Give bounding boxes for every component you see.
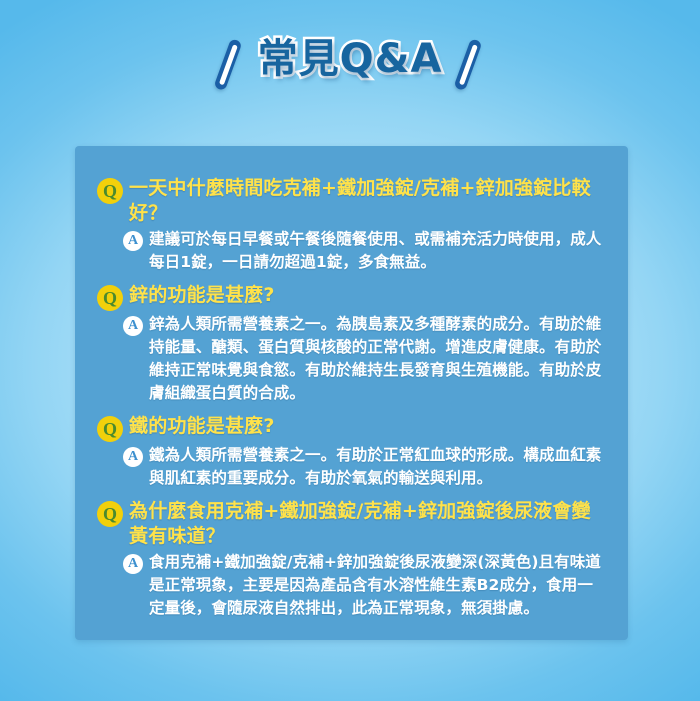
question-row: Q為什麼食用克補+鐵加強錠/克補+鋅加強錠後尿液會變黃有味道？ (97, 499, 606, 549)
question-text: 鋅的功能是甚麼? (129, 283, 275, 308)
answer-row: A鋅為人類所需營養素之一。為胰島素及多種酵素的成分。有助於維持能量、醣類、蛋白質… (97, 313, 606, 405)
question-text: 為什麼食用克補+鐵加強錠/克補+鋅加強錠後尿液會變黃有味道？ (129, 499, 606, 549)
answer-row: A食用克補+鐵加強錠/克補+鋅加強錠後尿液變深(深黃色)且有味道是正常現象，主要… (97, 551, 606, 620)
question-text: 鐵的功能是甚麼? (129, 414, 275, 439)
question-text: 一天中什麼時間吃克補+鐵加強錠/克補+鋅加強錠比較好？ (129, 176, 606, 226)
answer-text: 鋅為人類所需營養素之一。為胰島素及多種酵素的成分。有助於維持能量、醣類、蛋白質與… (149, 313, 606, 405)
faq-panel: Q一天中什麼時間吃克補+鐵加強錠/克補+鋅加強錠比較好？A建議可於每日早餐或午餐… (75, 146, 628, 640)
answer-badge-icon: A (123, 447, 143, 467)
slash-left-icon (213, 38, 242, 91)
question-row: Q鐵的功能是甚麼? (97, 414, 606, 442)
faq-list: Q一天中什麼時間吃克補+鐵加強錠/克補+鋅加強錠比較好？A建議可於每日早餐或午餐… (97, 176, 606, 620)
faq-item: Q一天中什麼時間吃克補+鐵加強錠/克補+鋅加強錠比較好？A建議可於每日早餐或午餐… (97, 176, 606, 274)
faq-item: Q鐵的功能是甚麼?A鐵為人類所需營養素之一。有助於正常紅血球的形成。構成血紅素與… (97, 414, 606, 490)
question-badge-icon: Q (97, 178, 123, 204)
question-row: Q鋅的功能是甚麼? (97, 283, 606, 311)
answer-badge-icon: A (123, 316, 143, 336)
answer-text: 鐵為人類所需營養素之一。有助於正常紅血球的形成。構成血紅素與肌紅素的重要成分。有… (149, 444, 606, 490)
page-header: 常見Q&A (0, 24, 700, 94)
question-badge-icon: Q (97, 285, 123, 311)
answer-badge-icon: A (123, 231, 143, 251)
answer-row: A建議可於每日早餐或午餐後隨餐使用、或需補充活力時使用，成人每日1錠，一日請勿超… (97, 228, 606, 274)
page-title: 常見Q&A (250, 39, 451, 79)
answer-text: 食用克補+鐵加強錠/克補+鋅加強錠後尿液變深(深黃色)且有味道是正常現象，主要是… (149, 551, 606, 620)
question-row: Q一天中什麼時間吃克補+鐵加強錠/克補+鋅加強錠比較好？ (97, 176, 606, 226)
question-badge-icon: Q (97, 416, 123, 442)
question-badge-icon: Q (97, 501, 123, 527)
slash-right-icon (454, 38, 483, 91)
answer-badge-icon: A (123, 554, 143, 574)
faq-item: Q鋅的功能是甚麼?A鋅為人類所需營養素之一。為胰島素及多種酵素的成分。有助於維持… (97, 283, 606, 405)
answer-row: A鐵為人類所需營養素之一。有助於正常紅血球的形成。構成血紅素與肌紅素的重要成分。… (97, 444, 606, 490)
answer-text: 建議可於每日早餐或午餐後隨餐使用、或需補充活力時使用，成人每日1錠，一日請勿超過… (149, 228, 606, 274)
faq-item: Q為什麼食用克補+鐵加強錠/克補+鋅加強錠後尿液會變黃有味道？A食用克補+鐵加強… (97, 499, 606, 620)
